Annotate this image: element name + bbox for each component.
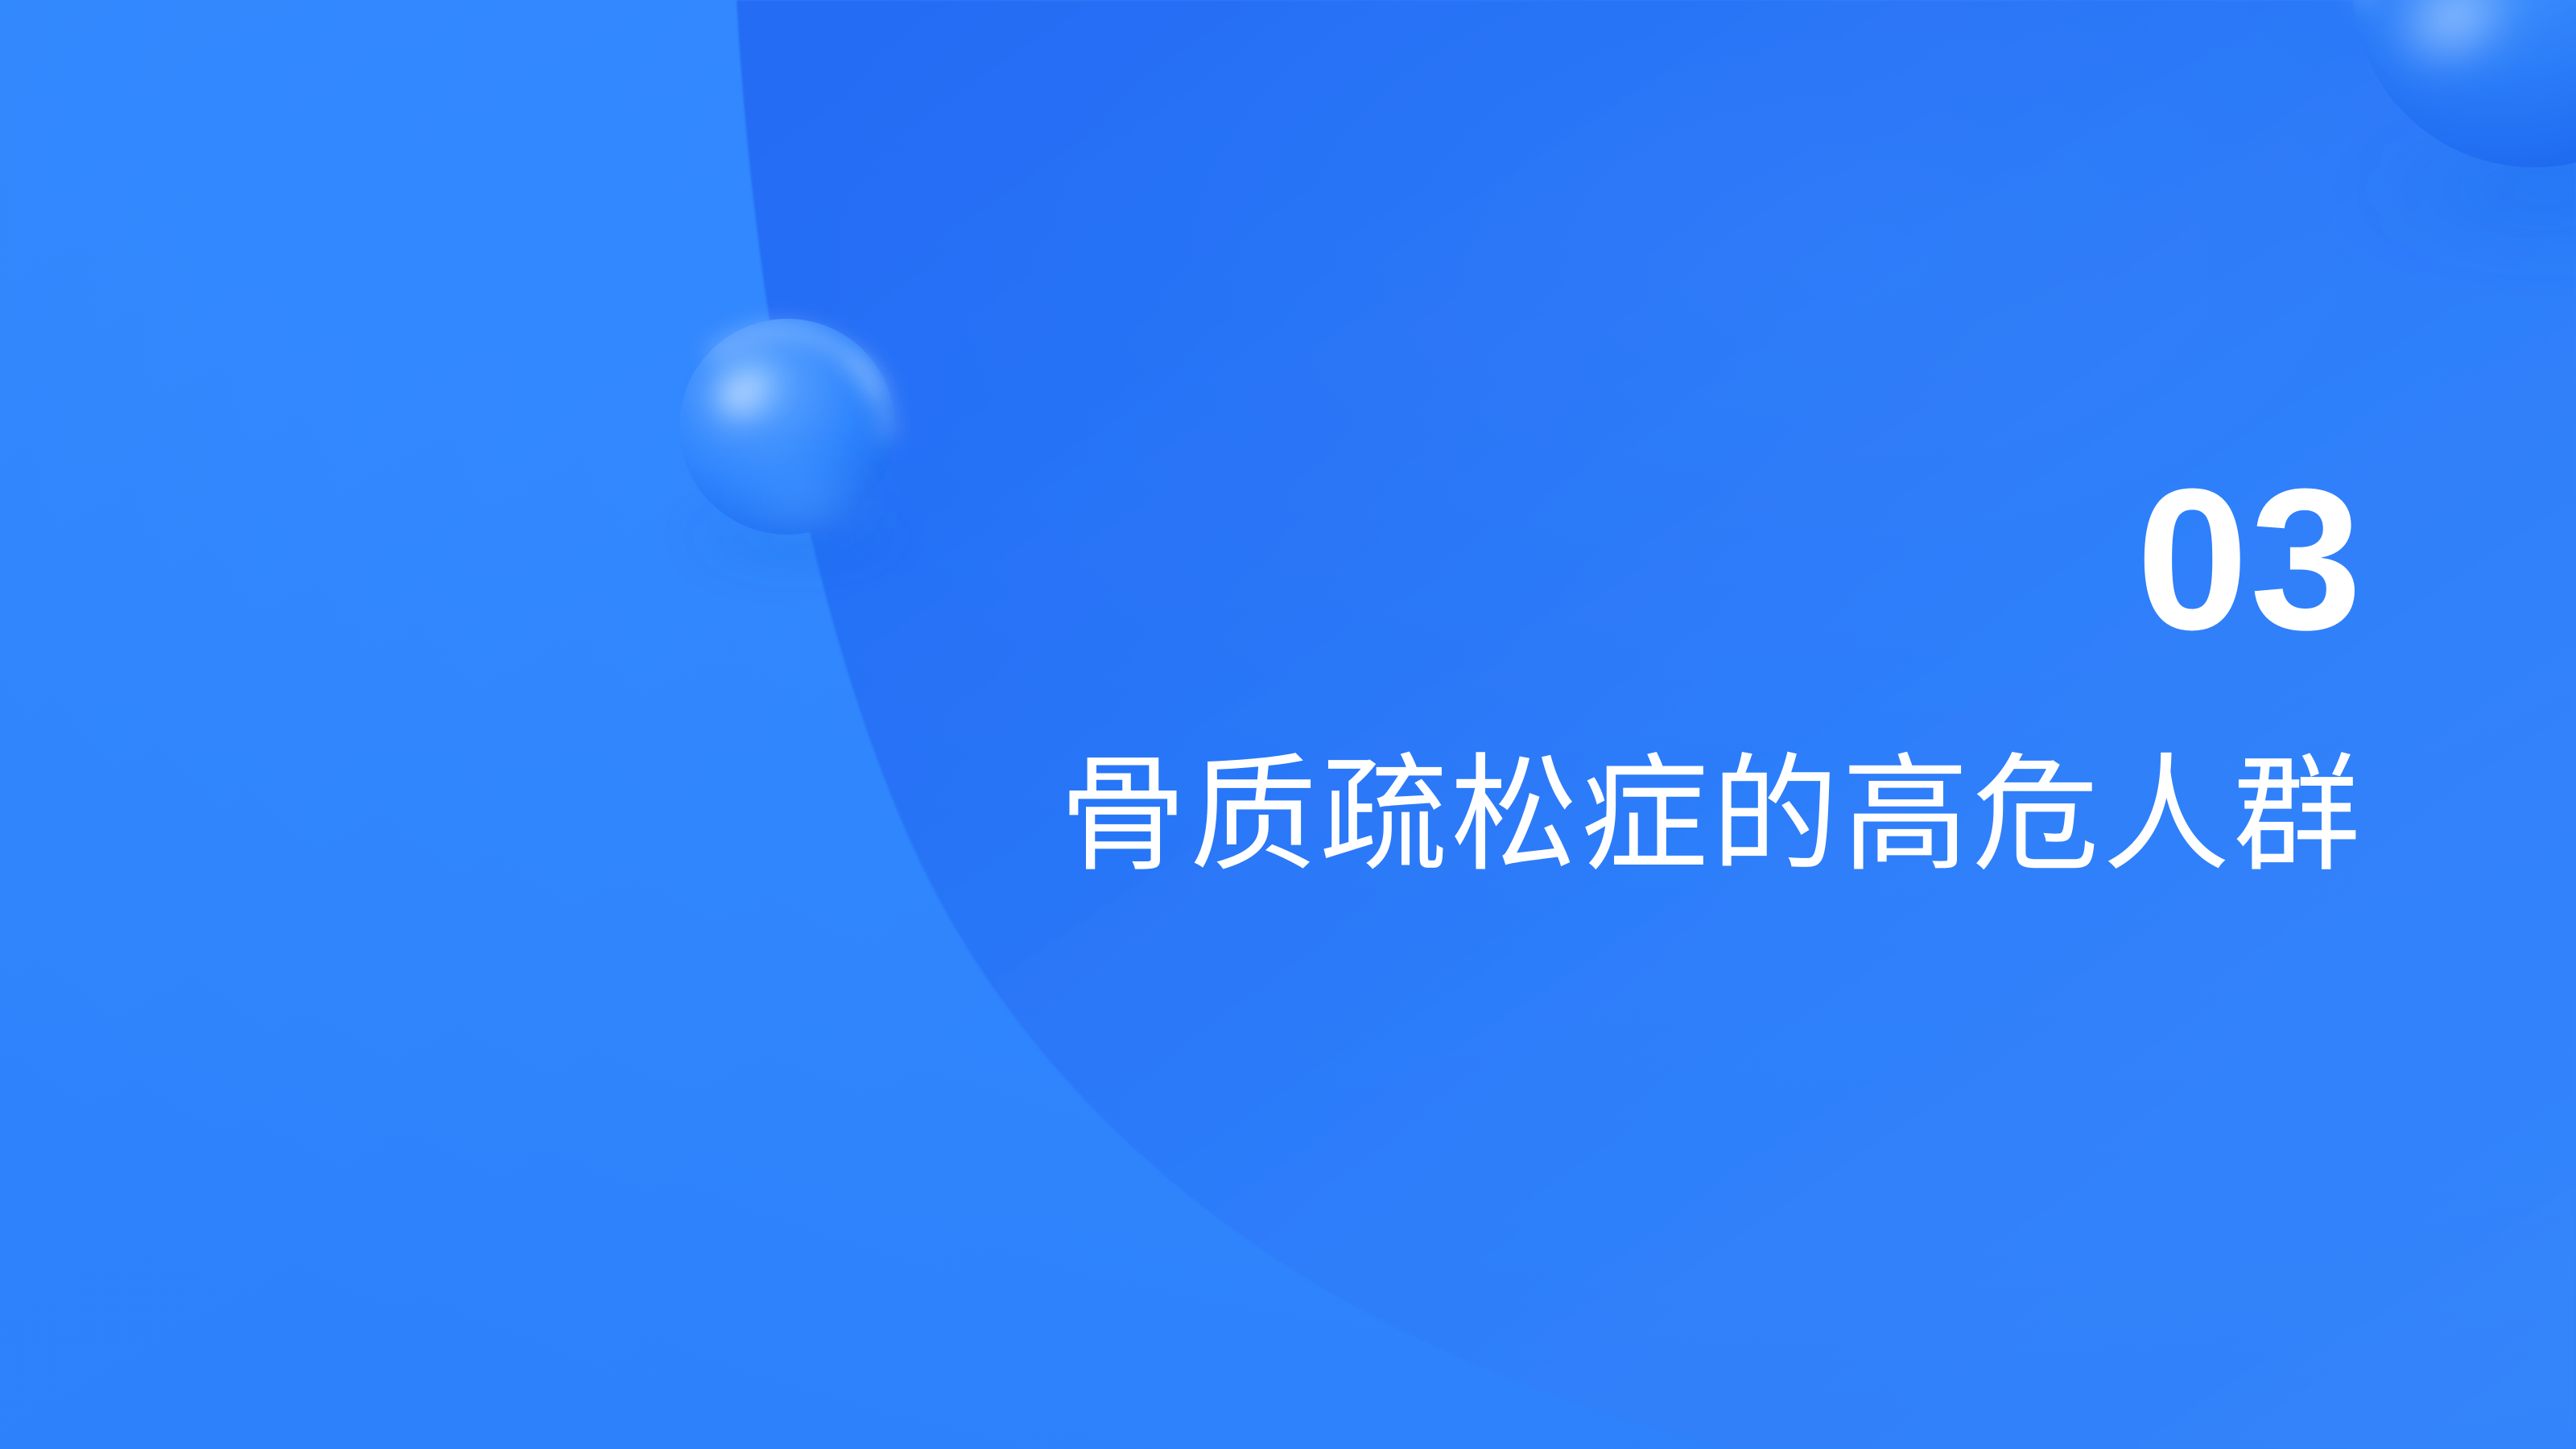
slide-canvas: 03 骨质疏松症的高危人群 [0, 0, 2576, 1449]
section-number: 03 [2136, 459, 2363, 660]
slide-background [0, 0, 2576, 1449]
page-title: 骨质疏松症的高危人群 [1059, 745, 2363, 887]
sphere-center-left-bounce [731, 467, 879, 535]
lighting-vignette [0, 0, 2576, 1449]
